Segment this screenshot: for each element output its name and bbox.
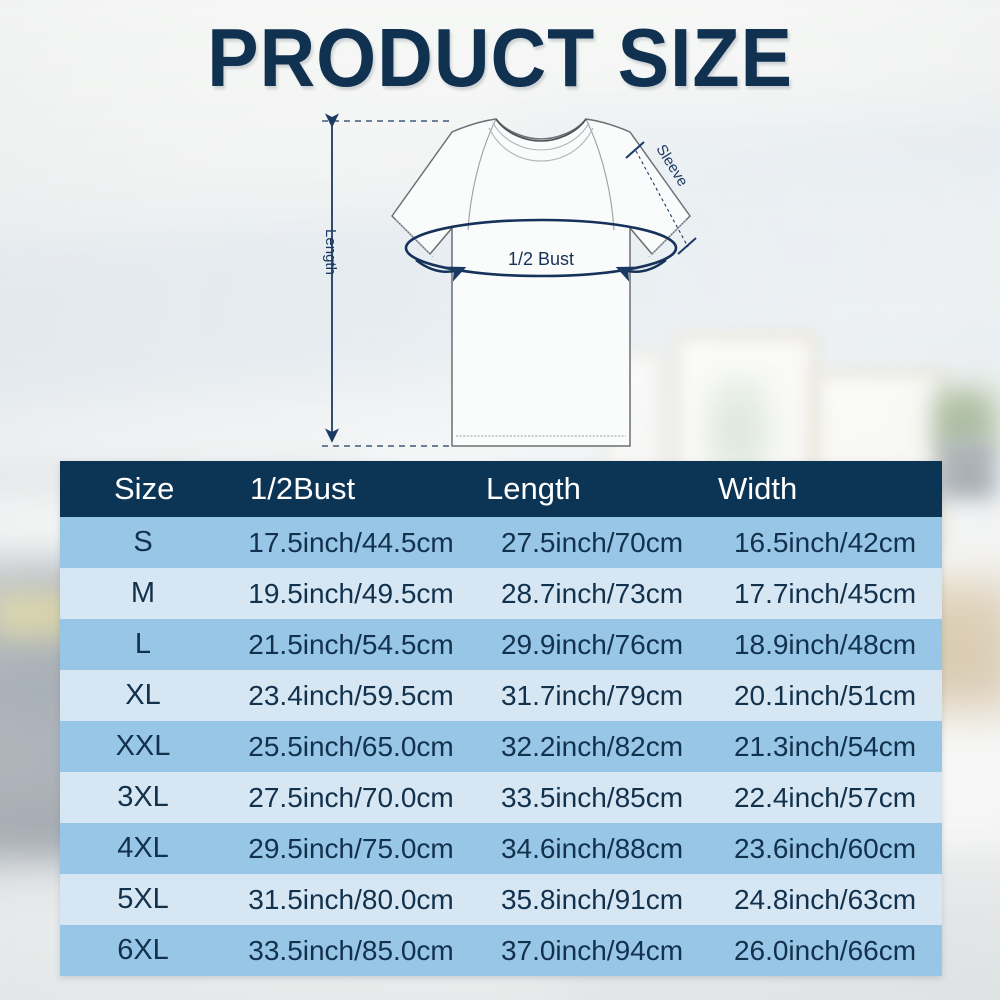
cell-length: 37.0inch/94cm bbox=[476, 925, 708, 976]
table-row: 3XL27.5inch/70.0cm33.5inch/85cm22.4inch/… bbox=[60, 772, 942, 823]
cell-bust: 29.5inch/75.0cm bbox=[226, 823, 476, 874]
cell-bust: 23.4inch/59.5cm bbox=[226, 670, 476, 721]
column-header-size: Size bbox=[60, 461, 226, 517]
column-header-length: Length bbox=[476, 461, 708, 517]
size-table-body: S17.5inch/44.5cm27.5inch/70cm16.5inch/42… bbox=[60, 517, 942, 976]
cell-width: 18.9inch/48cm bbox=[708, 619, 942, 670]
cell-bust: 19.5inch/49.5cm bbox=[226, 568, 476, 619]
table-row: L21.5inch/54.5cm29.9inch/76cm18.9inch/48… bbox=[60, 619, 942, 670]
cell-size: XXL bbox=[60, 721, 226, 772]
cell-length: 28.7inch/73cm bbox=[476, 568, 708, 619]
cell-size: L bbox=[60, 619, 226, 670]
cell-bust: 31.5inch/80.0cm bbox=[226, 874, 476, 925]
table-row: M19.5inch/49.5cm28.7inch/73cm17.7inch/45… bbox=[60, 568, 942, 619]
table-row: XL23.4inch/59.5cm31.7inch/79cm20.1inch/5… bbox=[60, 670, 942, 721]
cell-width: 24.8inch/63cm bbox=[708, 874, 942, 925]
table-row: XXL25.5inch/65.0cm32.2inch/82cm21.3inch/… bbox=[60, 721, 942, 772]
column-header-bust: 1/2Bust bbox=[226, 461, 476, 517]
table-row: 6XL33.5inch/85.0cm37.0inch/94cm26.0inch/… bbox=[60, 925, 942, 976]
page-title: PRODUCT SIZE bbox=[35, 14, 965, 101]
table-row: 5XL31.5inch/80.0cm35.8inch/91cm24.8inch/… bbox=[60, 874, 942, 925]
cell-length: 31.7inch/79cm bbox=[476, 670, 708, 721]
cell-width: 16.5inch/42cm bbox=[708, 517, 942, 568]
cell-width: 22.4inch/57cm bbox=[708, 772, 942, 823]
tshirt-measurement-diagram: Length Sleeve 1/2 Bust bbox=[300, 108, 710, 458]
column-header-width: Width bbox=[708, 461, 942, 517]
cell-width: 20.1inch/51cm bbox=[708, 670, 942, 721]
cell-length: 32.2inch/82cm bbox=[476, 721, 708, 772]
table-row: 4XL29.5inch/75.0cm34.6inch/88cm23.6inch/… bbox=[60, 823, 942, 874]
cell-size: 3XL bbox=[60, 772, 226, 823]
cell-width: 21.3inch/54cm bbox=[708, 721, 942, 772]
half-bust-label: 1/2 Bust bbox=[508, 249, 574, 269]
cell-length: 27.5inch/70cm bbox=[476, 517, 708, 568]
table-row: S17.5inch/44.5cm27.5inch/70cm16.5inch/42… bbox=[60, 517, 942, 568]
size-table: Size 1/2Bust Length Width S17.5inch/44.5… bbox=[60, 461, 942, 976]
cell-size: XL bbox=[60, 670, 226, 721]
product-size-chart-page: PRODUCT SIZE bbox=[0, 0, 1000, 1000]
cell-length: 35.8inch/91cm bbox=[476, 874, 708, 925]
cell-size: 6XL bbox=[60, 925, 226, 976]
cell-size: M bbox=[60, 568, 226, 619]
cell-bust: 21.5inch/54.5cm bbox=[226, 619, 476, 670]
cell-width: 23.6inch/60cm bbox=[708, 823, 942, 874]
cell-size: 4XL bbox=[60, 823, 226, 874]
cell-width: 26.0inch/66cm bbox=[708, 925, 942, 976]
size-table-head: Size 1/2Bust Length Width bbox=[60, 461, 942, 517]
cell-bust: 25.5inch/65.0cm bbox=[226, 721, 476, 772]
table-header-row: Size 1/2Bust Length Width bbox=[60, 461, 942, 517]
cell-bust: 27.5inch/70.0cm bbox=[226, 772, 476, 823]
cell-size: 5XL bbox=[60, 874, 226, 925]
cell-bust: 33.5inch/85.0cm bbox=[226, 925, 476, 976]
cell-width: 17.7inch/45cm bbox=[708, 568, 942, 619]
cell-length: 29.9inch/76cm bbox=[476, 619, 708, 670]
cell-length: 34.6inch/88cm bbox=[476, 823, 708, 874]
cell-size: S bbox=[60, 517, 226, 568]
cell-length: 33.5inch/85cm bbox=[476, 772, 708, 823]
cell-bust: 17.5inch/44.5cm bbox=[226, 517, 476, 568]
length-label: Length bbox=[322, 229, 339, 275]
